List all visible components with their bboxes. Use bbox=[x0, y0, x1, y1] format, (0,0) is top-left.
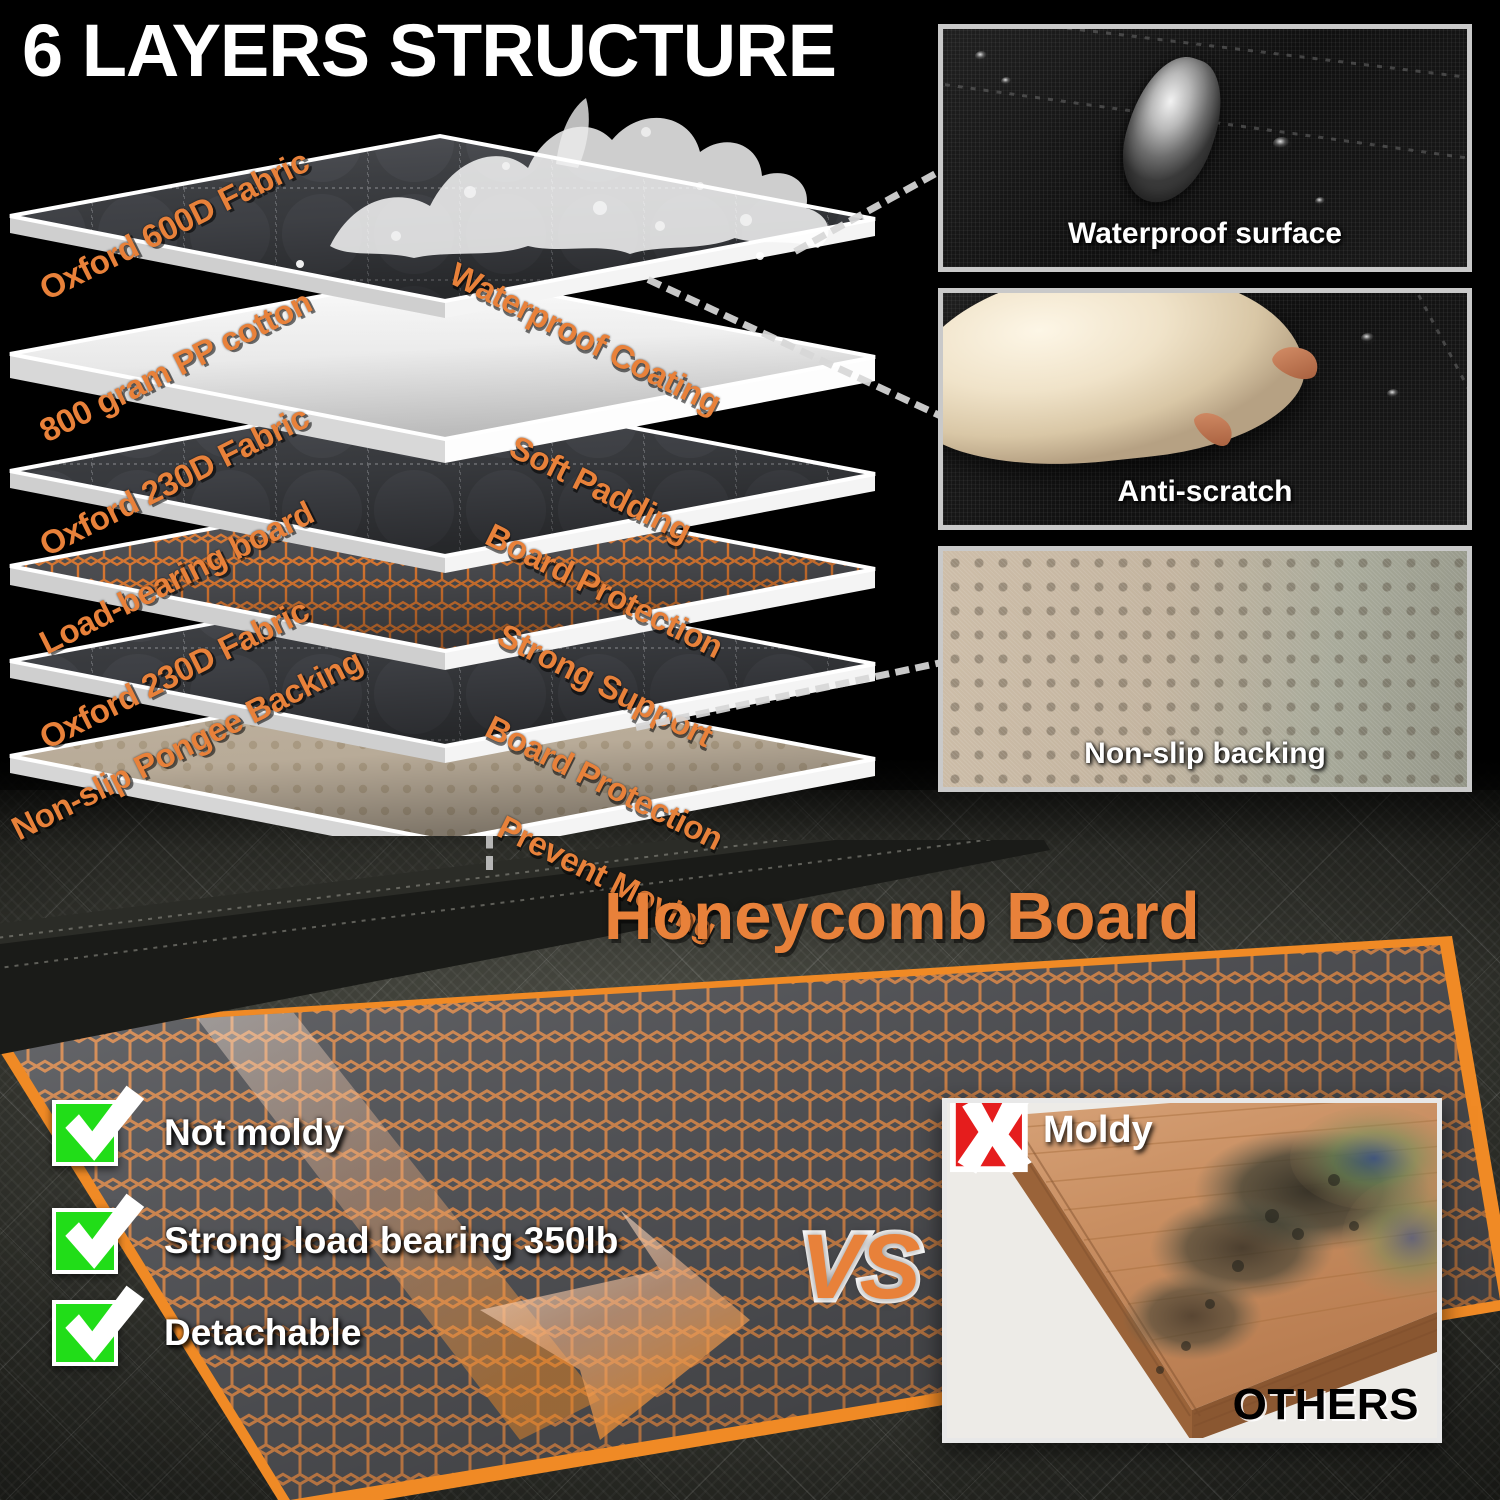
x-badge-icon bbox=[942, 1098, 1055, 1197]
benefit-row-1: Not moldy bbox=[52, 1100, 345, 1166]
check-icon bbox=[52, 1100, 118, 1166]
infographic-canvas: Oxford 600D Fabric Waterproof Coating 80… bbox=[0, 0, 1500, 1500]
comparison-card-others: Moldy OTHERS bbox=[942, 1098, 1442, 1443]
water-droplet-icon bbox=[1361, 333, 1375, 344]
checkmark-glyph bbox=[50, 1278, 146, 1374]
benefit-row-2: Strong load bearing 350lb bbox=[52, 1208, 618, 1274]
layer-stack: Oxford 600D Fabric Waterproof Coating 80… bbox=[0, 96, 900, 826]
water-droplet-icon bbox=[1001, 77, 1012, 86]
checkmark-glyph bbox=[50, 1078, 146, 1174]
water-droplet-icon bbox=[975, 51, 988, 62]
layer-stack-svg bbox=[0, 96, 900, 836]
benefit-label-2: Strong load bearing 350lb bbox=[164, 1220, 618, 1262]
water-droplet-icon bbox=[1387, 389, 1400, 399]
checkmark-glyph bbox=[50, 1186, 146, 1282]
honeycomb-board-title: Honeycomb Board bbox=[604, 878, 1200, 955]
moldy-label: Moldy bbox=[1043, 1109, 1153, 1152]
detail-card-antiscratch: Anti-scratch bbox=[938, 288, 1472, 530]
check-icon bbox=[52, 1300, 118, 1366]
water-droplet-icon bbox=[1273, 137, 1291, 151]
detail-card-nonslip: Non-slip backing bbox=[938, 546, 1472, 792]
check-icon bbox=[52, 1208, 118, 1274]
water-droplet-icon bbox=[1315, 197, 1326, 206]
benefit-label-1: Not moldy bbox=[164, 1112, 345, 1154]
vs-label: VS bbox=[800, 1215, 919, 1320]
detail-card-caption: Waterproof surface bbox=[943, 217, 1467, 251]
detail-card-caption: Anti-scratch bbox=[943, 475, 1467, 509]
benefit-row-3: Detachable bbox=[52, 1300, 361, 1366]
benefit-label-3: Detachable bbox=[164, 1312, 361, 1354]
detail-card-waterproof: Waterproof surface bbox=[938, 24, 1472, 272]
others-label: OTHERS bbox=[1233, 1380, 1419, 1430]
page-title: 6 LAYERS STRUCTURE bbox=[22, 8, 836, 93]
detail-card-caption: Non-slip backing bbox=[943, 737, 1467, 771]
